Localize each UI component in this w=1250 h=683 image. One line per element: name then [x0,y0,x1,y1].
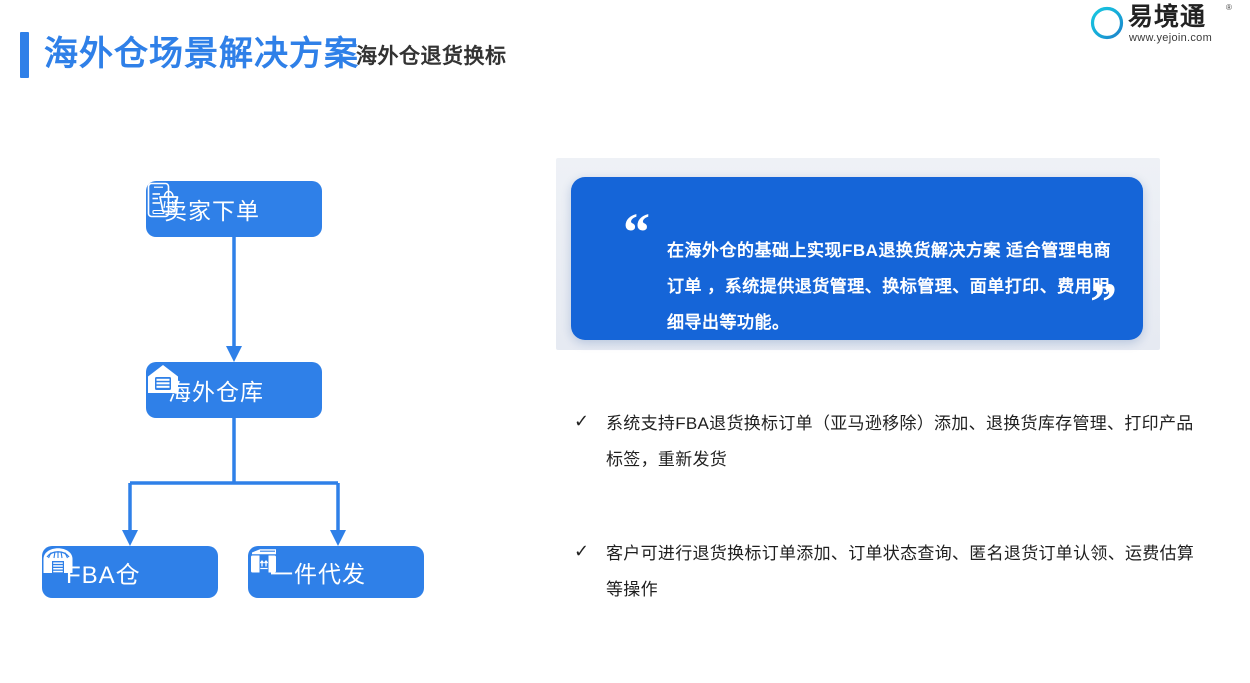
flow-node-warehouse-label: 海外仓库 [168,373,264,407]
list-item: ✓ 系统支持FBA退货换标订单（亚马逊移除）添加、退换货库存管理、打印产品标签，… [564,406,1204,478]
cloud-circle-icon [1090,6,1124,40]
right-column: “ 在海外仓的基础上实现FBA退换货解决方案 适合管理电商订单 ，系统提供退货管… [540,150,1240,650]
logo-wordmark: 易境通 [1128,3,1206,31]
page-subtitle: 海外仓退货换标 [356,42,507,72]
title-accent-bar [20,32,29,78]
quote-card: “ 在海外仓的基础上实现FBA退换货解决方案 适合管理电商订单 ，系统提供退货管… [571,177,1143,340]
flow-node-fba-label: FBA仓 [66,555,141,590]
flow-node-dropship-label: 一件代发 [270,555,366,589]
quote-text: 在海外仓的基础上实现FBA退换货解决方案 适合管理电商订单 ，系统提供退货管理、… [667,233,1117,341]
flow-node-fba[interactable]: FBA仓 [42,546,218,598]
quote-open-mark: “ [623,217,648,247]
check-icon: ✓ [574,407,589,435]
flow-node-warehouse[interactable]: 海外仓库 [146,362,322,418]
flow-node-dropship[interactable]: 一件代发 [248,546,424,598]
list-item-text: 系统支持FBA退货换标订单（亚马逊移除）添加、退换货库存管理、打印产品标签，重新… [606,414,1194,469]
slide-root: 海外仓场景解决方案 海外仓退货换标 易境通 ® www.yejoin.com [0,0,1250,683]
feature-list: ✓ 系统支持FBA退货换标订单（亚马逊移除）添加、退换货库存管理、打印产品标签，… [564,406,1204,666]
logo-url: www.yejoin.com [1129,32,1212,44]
flow-node-seller[interactable]: 卖家下单 [146,181,322,237]
quote-close-mark: ” [1090,280,1115,324]
brand-logo: 易境通 ® www.yejoin.com [1090,4,1242,46]
slide-header: 海外仓场景解决方案 海外仓退货换标 [0,0,1250,110]
page-title: 海外仓场景解决方案 [44,30,359,78]
list-item: ✓ 客户可进行退货换标订单添加、订单状态查询、匿名退货订单认领、运费估算等操作 [564,536,1204,608]
list-item-text: 客户可进行退货换标订单添加、订单状态查询、匿名退货订单认领、运费估算等操作 [606,544,1194,599]
registered-mark: ® [1226,4,1232,12]
check-icon: ✓ [574,537,589,565]
flow-chart: 卖家下单 海外仓库 [0,150,500,620]
